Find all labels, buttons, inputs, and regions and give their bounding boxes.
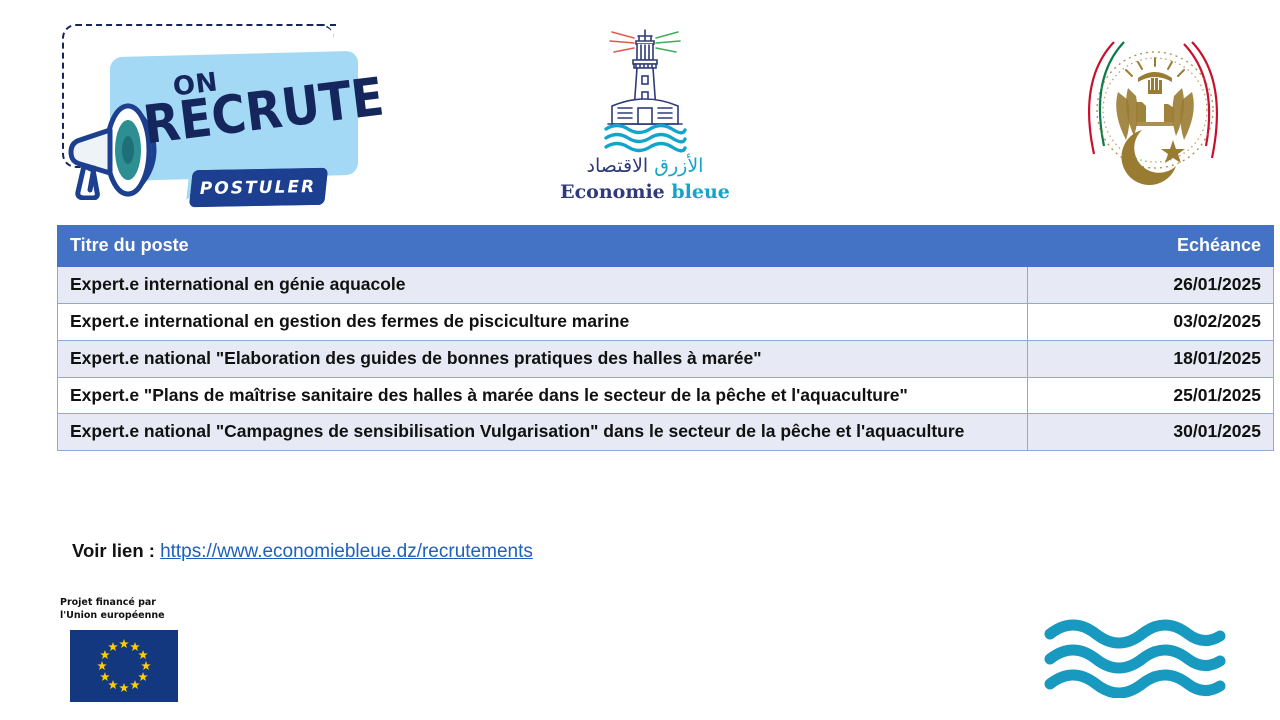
eu-text-line2: l'Union européenne — [60, 610, 165, 621]
eu-text-line1: Projet financé par — [60, 597, 156, 608]
french-word-bleue: bleue — [671, 181, 730, 203]
table-header-row: Titre du poste Echéance — [58, 226, 1274, 267]
job-deadline: 18/01/2025 — [1028, 340, 1274, 377]
job-title: Expert.e "Plans de maîtrise sanitaire de… — [58, 377, 1028, 414]
table-body: Expert.e international en génie aquacole… — [58, 267, 1274, 451]
slide-root: ON RECRUTE POSTULER — [0, 0, 1280, 720]
on-recrute-logo: ON RECRUTE POSTULER — [58, 22, 376, 202]
table-row[interactable]: Expert.e national "Elaboration des guide… — [58, 340, 1274, 377]
link-section: Voir lien : https://www.economiebleue.dz… — [72, 540, 533, 563]
eu-flag — [70, 630, 178, 702]
job-title: Expert.e international en génie aquacole — [58, 267, 1028, 304]
economie-bleue-logo: الأزرق الاقتصاد Economie bleue — [560, 24, 730, 202]
eu-funding-text: Projet financé par l'Union européenne — [60, 597, 182, 623]
table-row[interactable]: Expert.e international en gestion des fe… — [58, 304, 1274, 341]
lighthouse-icon — [560, 24, 730, 156]
job-deadline: 26/01/2025 — [1028, 267, 1274, 304]
algeria-emblem — [1072, 18, 1238, 194]
column-header-deadline[interactable]: Echéance — [1028, 226, 1274, 267]
eu-funding-block: Projet financé par l'Union européenne — [60, 597, 190, 623]
link-label: Voir lien : — [72, 540, 155, 561]
french-word-economie: Economie — [560, 181, 665, 203]
table-row[interactable]: Expert.e national "Campagnes de sensibil… — [58, 414, 1274, 451]
job-title: Expert.e international en gestion des fe… — [58, 304, 1028, 341]
column-header-title[interactable]: Titre du poste — [58, 226, 1028, 267]
wave-decoration-icon — [1042, 612, 1228, 698]
table-row[interactable]: Expert.e international en génie aquacole… — [58, 267, 1274, 304]
arabic-word-azraq: الأزرق — [654, 155, 703, 177]
job-title: Expert.e national "Elaboration des guide… — [58, 340, 1028, 377]
table-header: Titre du poste Echéance — [58, 226, 1274, 267]
arabic-word-iqtisad: الاقتصاد — [587, 155, 649, 177]
eu-stars-icon — [70, 630, 178, 702]
job-deadline: 03/02/2025 — [1028, 304, 1274, 341]
job-deadline: 25/01/2025 — [1028, 377, 1274, 414]
postuler-label: POSTULER — [200, 177, 317, 199]
job-deadline: 30/01/2025 — [1028, 414, 1274, 451]
economie-bleue-arabic: الأزرق الاقتصاد — [560, 155, 730, 177]
table-row[interactable]: Expert.e "Plans de maîtrise sanitaire de… — [58, 377, 1274, 414]
job-listings-table: Titre du poste Echéance Expert.e interna… — [57, 225, 1274, 451]
algeria-emblem-icon — [1072, 18, 1238, 194]
recruitment-link[interactable]: https://www.economiebleue.dz/recrutement… — [160, 541, 533, 562]
postuler-badge[interactable]: POSTULER — [189, 168, 328, 207]
economie-bleue-french: Economie bleue — [560, 181, 730, 203]
header-logos: ON RECRUTE POSTULER — [0, 0, 1280, 212]
job-title: Expert.e national "Campagnes de sensibil… — [58, 414, 1028, 451]
